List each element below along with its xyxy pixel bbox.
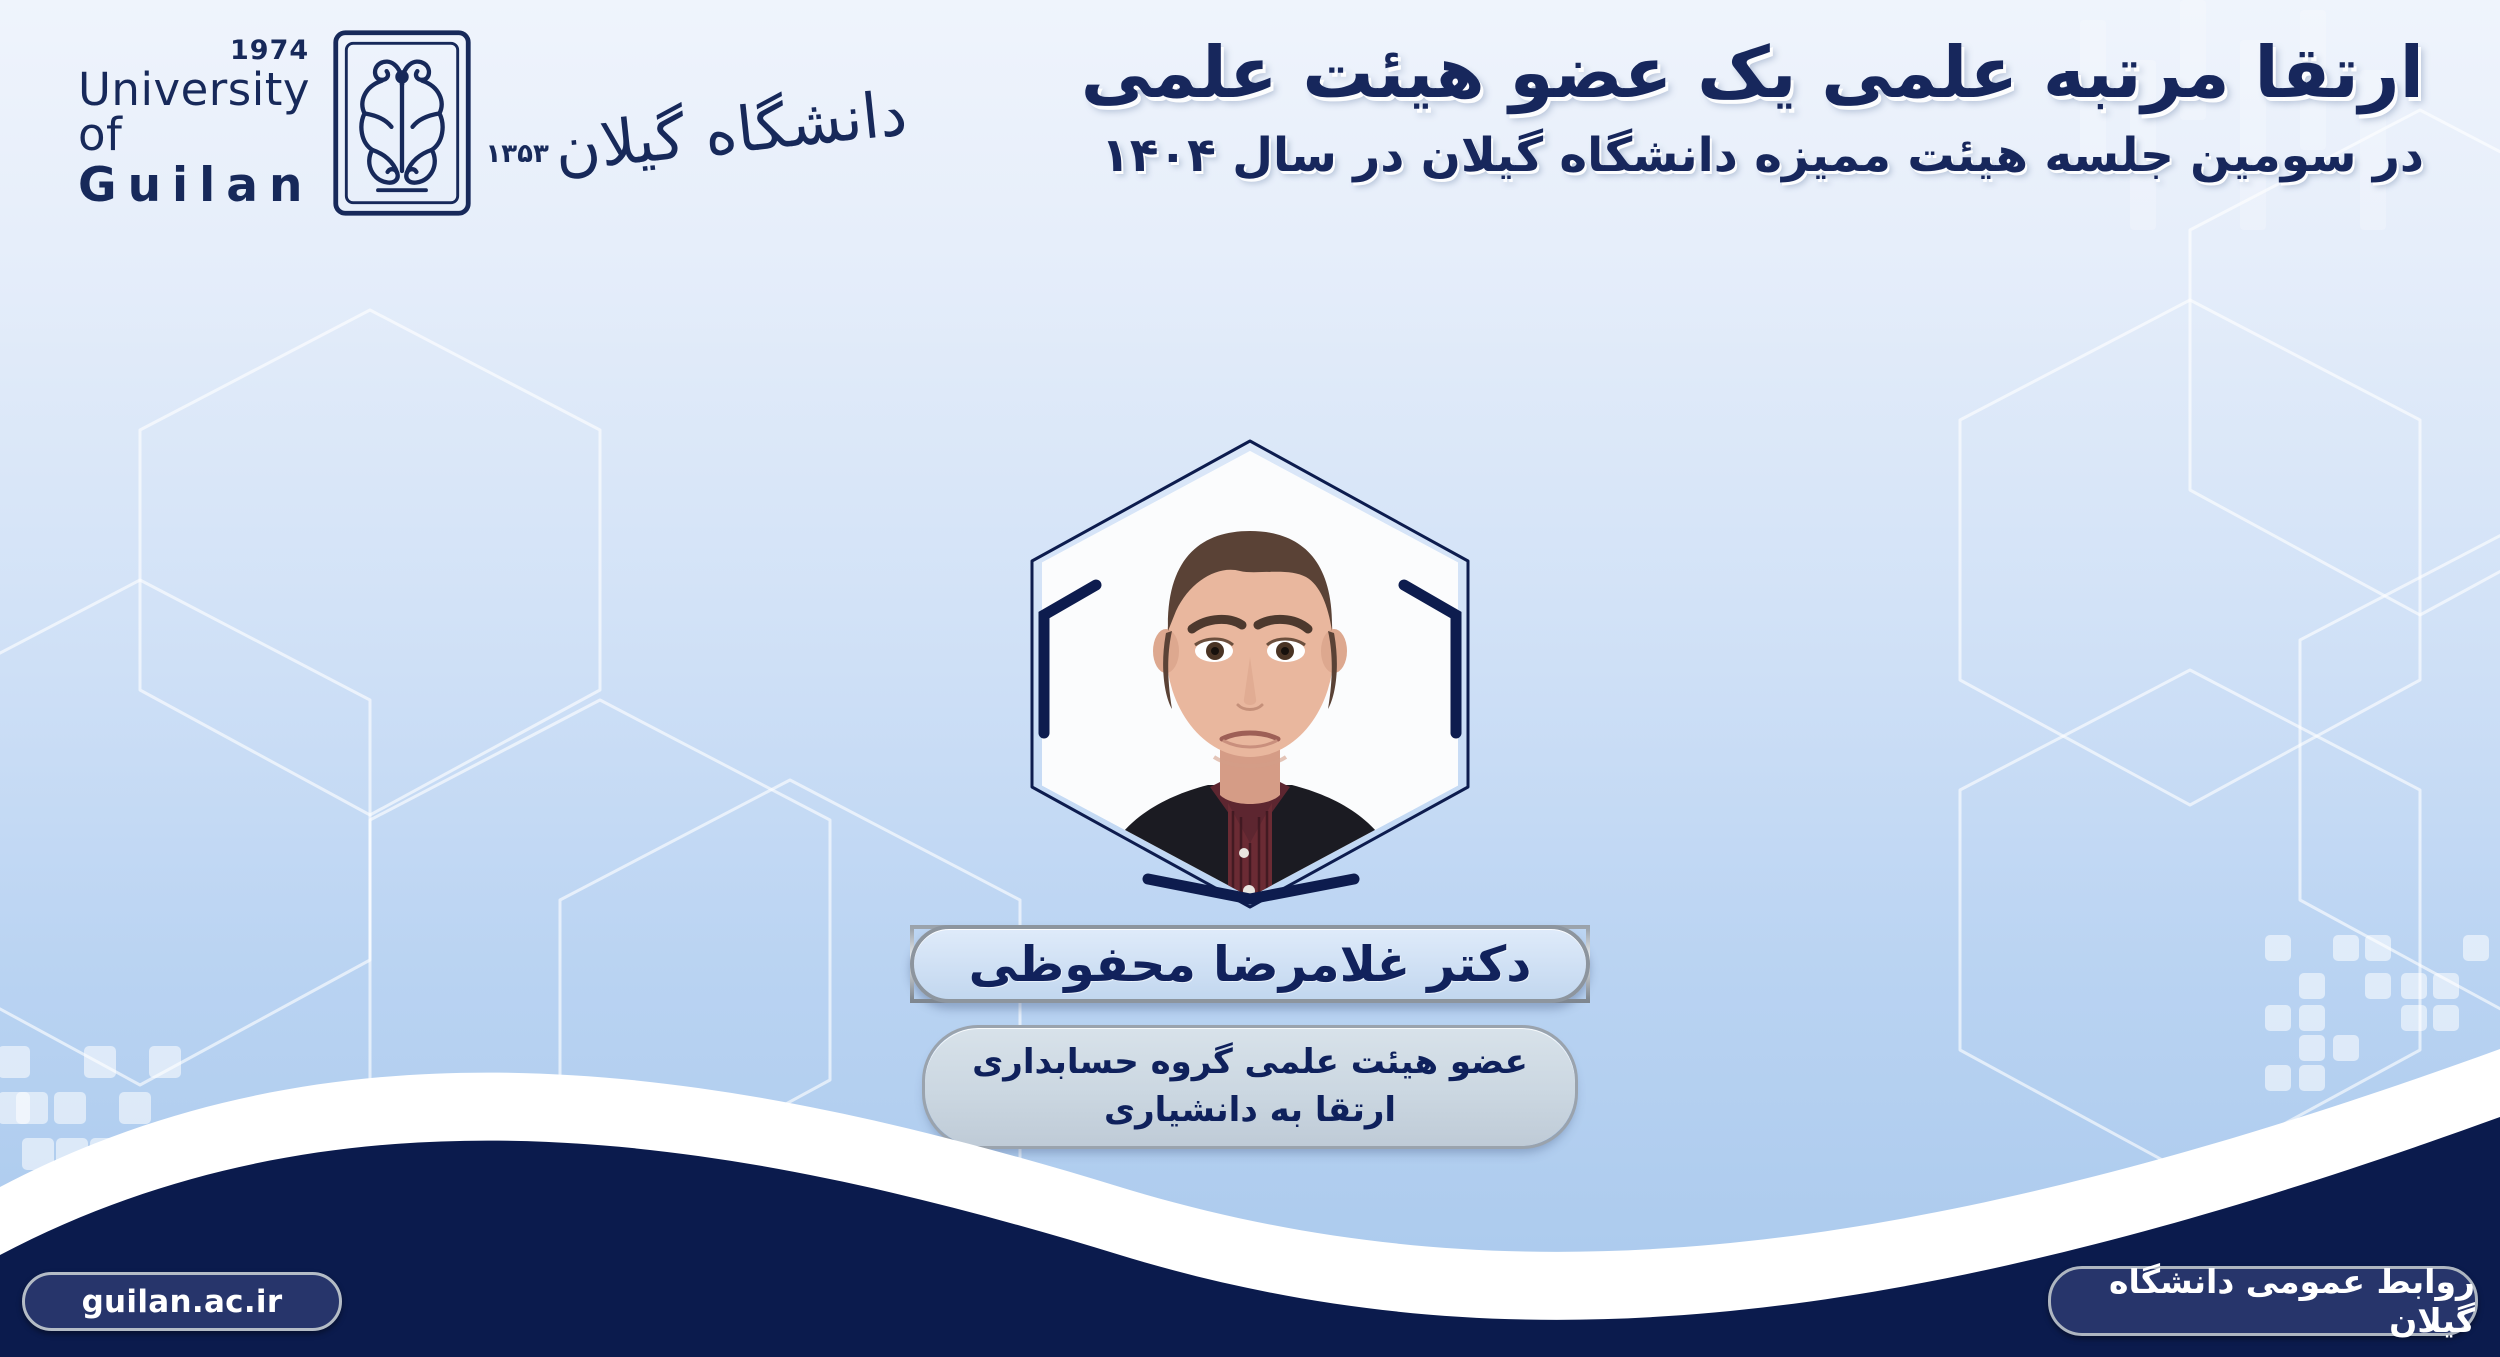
public-relations-badge: روابط عمومی دانشگاه گیلان [2048,1266,2478,1336]
person-name: دکتر غلامرضا محفوظی [969,936,1532,993]
portrait-frame [1024,433,1476,915]
logo-year-english: 1974 [230,37,309,64]
guilan-emblem-icon [329,27,475,219]
logo-persian-block: دانشگاه گیلان ۱۳۵۳ [485,77,906,169]
university-logo: 1974 University of Guilan دانشگاه گ [78,38,818,208]
logo-english-block: 1974 University of Guilan [78,37,313,209]
public-relations-label: روابط عمومی دانشگاه گیلان [2051,1262,2475,1340]
poster-canvas: 1974 University of Guilan دانشگاه گ [0,0,2500,1357]
logo-guilan: Guilan [78,162,313,209]
logo-university-of: University of [78,67,313,157]
logo-year-persian: ۱۳۵۳ [485,139,548,169]
page-title: ارتقا مرتبه علمی یک عضو هیئت علمی [974,28,2424,119]
name-badge: دکتر غلامرضا محفوظی [910,925,1590,1003]
person-role-line1: عضو هیئت علمی گروه حسابداری [972,1040,1528,1086]
website-url-button[interactable]: guilan.ac.ir [22,1272,342,1331]
person-role-line2: ارتقا به دانشیاری [1104,1088,1396,1134]
page-subtitle: در سومین جلسه هیئت ممیزه دانشگاه گیلان د… [974,125,2424,186]
portrait-hex-outline [1024,433,1476,915]
logo-persian-name: دانشگاه گیلان [551,77,910,185]
website-url-label: guilan.ac.ir [82,1284,283,1320]
title-block: ارتقا مرتبه علمی یک عضو هیئت علمی در سوم… [974,28,2424,186]
